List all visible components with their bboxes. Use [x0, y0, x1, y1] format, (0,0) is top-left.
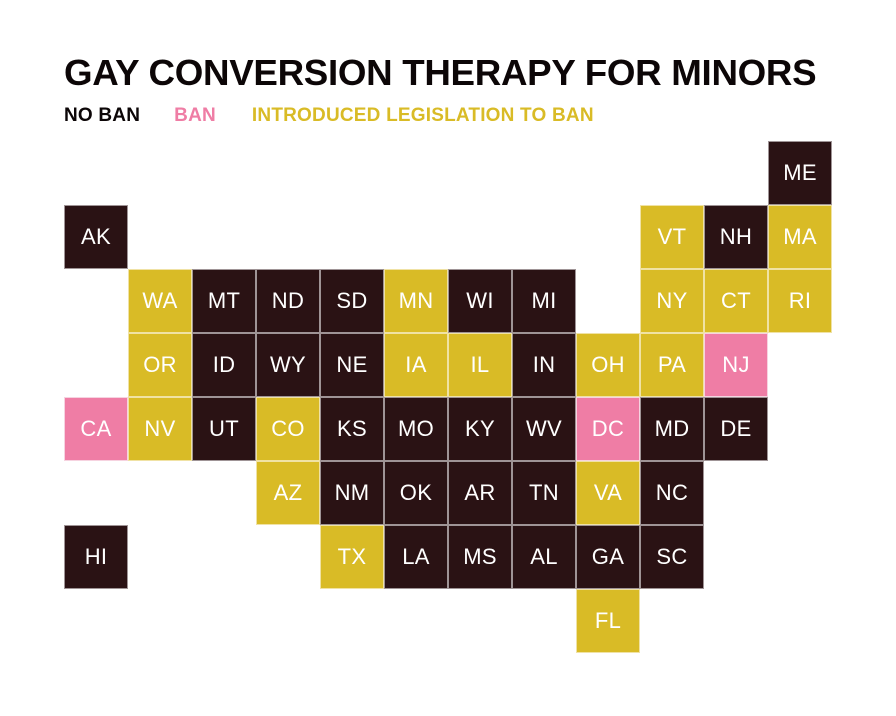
state-cell-me[interactable]: ME: [768, 141, 832, 205]
state-cell-in[interactable]: IN: [512, 333, 576, 397]
state-cell-fl[interactable]: FL: [576, 589, 640, 653]
state-cell-nv[interactable]: NV: [128, 397, 192, 461]
state-cell-co[interactable]: CO: [256, 397, 320, 461]
state-cell-hi[interactable]: HI: [64, 525, 128, 589]
state-cell-ma[interactable]: MA: [768, 205, 832, 269]
state-cell-ut[interactable]: UT: [192, 397, 256, 461]
state-cell-va[interactable]: VA: [576, 461, 640, 525]
state-cell-ct[interactable]: CT: [704, 269, 768, 333]
state-cell-ri[interactable]: RI: [768, 269, 832, 333]
state-cell-id[interactable]: ID: [192, 333, 256, 397]
state-cell-ks[interactable]: KS: [320, 397, 384, 461]
state-cell-oh[interactable]: OH: [576, 333, 640, 397]
state-cell-wy[interactable]: WY: [256, 333, 320, 397]
state-cell-mn[interactable]: MN: [384, 269, 448, 333]
state-cell-il[interactable]: IL: [448, 333, 512, 397]
state-cell-la[interactable]: LA: [384, 525, 448, 589]
state-cell-az[interactable]: AZ: [256, 461, 320, 525]
state-cell-ar[interactable]: AR: [448, 461, 512, 525]
state-cell-wi[interactable]: WI: [448, 269, 512, 333]
state-cell-tn[interactable]: TN: [512, 461, 576, 525]
state-cell-wa[interactable]: WA: [128, 269, 192, 333]
state-cell-ny[interactable]: NY: [640, 269, 704, 333]
state-cell-ok[interactable]: OK: [384, 461, 448, 525]
state-cell-ak[interactable]: AK: [64, 205, 128, 269]
state-cell-ia[interactable]: IA: [384, 333, 448, 397]
state-cell-or[interactable]: OR: [128, 333, 192, 397]
state-cell-nm[interactable]: NM: [320, 461, 384, 525]
state-cell-md[interactable]: MD: [640, 397, 704, 461]
state-cell-tx[interactable]: TX: [320, 525, 384, 589]
state-cell-ky[interactable]: KY: [448, 397, 512, 461]
state-cell-ga[interactable]: GA: [576, 525, 640, 589]
state-cell-wv[interactable]: WV: [512, 397, 576, 461]
infographic-page: GAY CONVERSION THERAPY FOR MINORS NO BAN…: [0, 0, 896, 716]
state-cell-ca[interactable]: CA: [64, 397, 128, 461]
state-cell-dc[interactable]: DC: [576, 397, 640, 461]
state-cell-nc[interactable]: NC: [640, 461, 704, 525]
state-cell-sd[interactable]: SD: [320, 269, 384, 333]
state-cell-de[interactable]: DE: [704, 397, 768, 461]
state-cell-vt[interactable]: VT: [640, 205, 704, 269]
state-cell-mo[interactable]: MO: [384, 397, 448, 461]
state-cell-mt[interactable]: MT: [192, 269, 256, 333]
state-cell-nd[interactable]: ND: [256, 269, 320, 333]
state-cell-ms[interactable]: MS: [448, 525, 512, 589]
state-cell-mi[interactable]: MI: [512, 269, 576, 333]
state-grid-map: MEAKVTNHMAWAMTNDSDMNWIMINYCTRIORIDWYNEIA…: [0, 0, 896, 716]
state-cell-sc[interactable]: SC: [640, 525, 704, 589]
state-cell-nj[interactable]: NJ: [704, 333, 768, 397]
state-cell-nh[interactable]: NH: [704, 205, 768, 269]
state-cell-al[interactable]: AL: [512, 525, 576, 589]
state-cell-ne[interactable]: NE: [320, 333, 384, 397]
state-cell-pa[interactable]: PA: [640, 333, 704, 397]
